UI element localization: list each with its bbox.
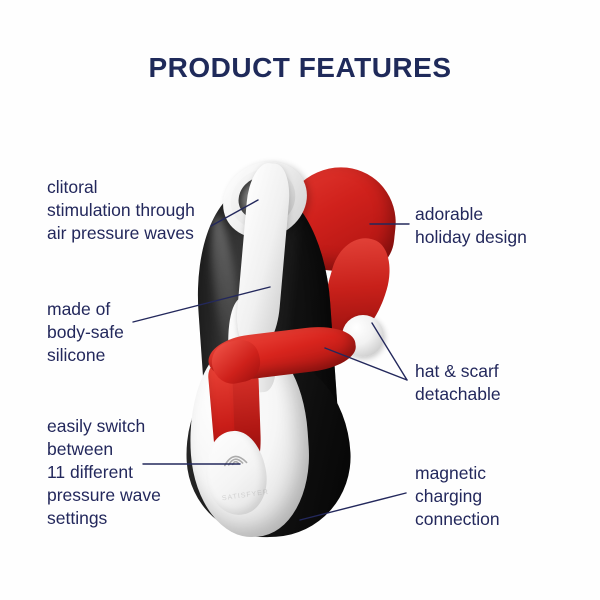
callout-hat-scarf-detachable: hat & scarf detachable xyxy=(415,360,585,406)
callout-holiday-design: adorable holiday design xyxy=(415,203,585,249)
callout-body-safe-silicone: made of body-safe silicone xyxy=(47,298,207,367)
callout-magnetic-charging: magnetic charging connection xyxy=(415,462,590,531)
callout-pressure-wave-settings: easily switch between 11 different press… xyxy=(47,415,217,530)
callout-clitoral-stimulation: clitoral stimulation through air pressur… xyxy=(47,176,237,245)
infographic-page: PRODUCT FEATURES SATISFYER xyxy=(0,0,600,600)
page-title: PRODUCT FEATURES xyxy=(0,52,600,84)
